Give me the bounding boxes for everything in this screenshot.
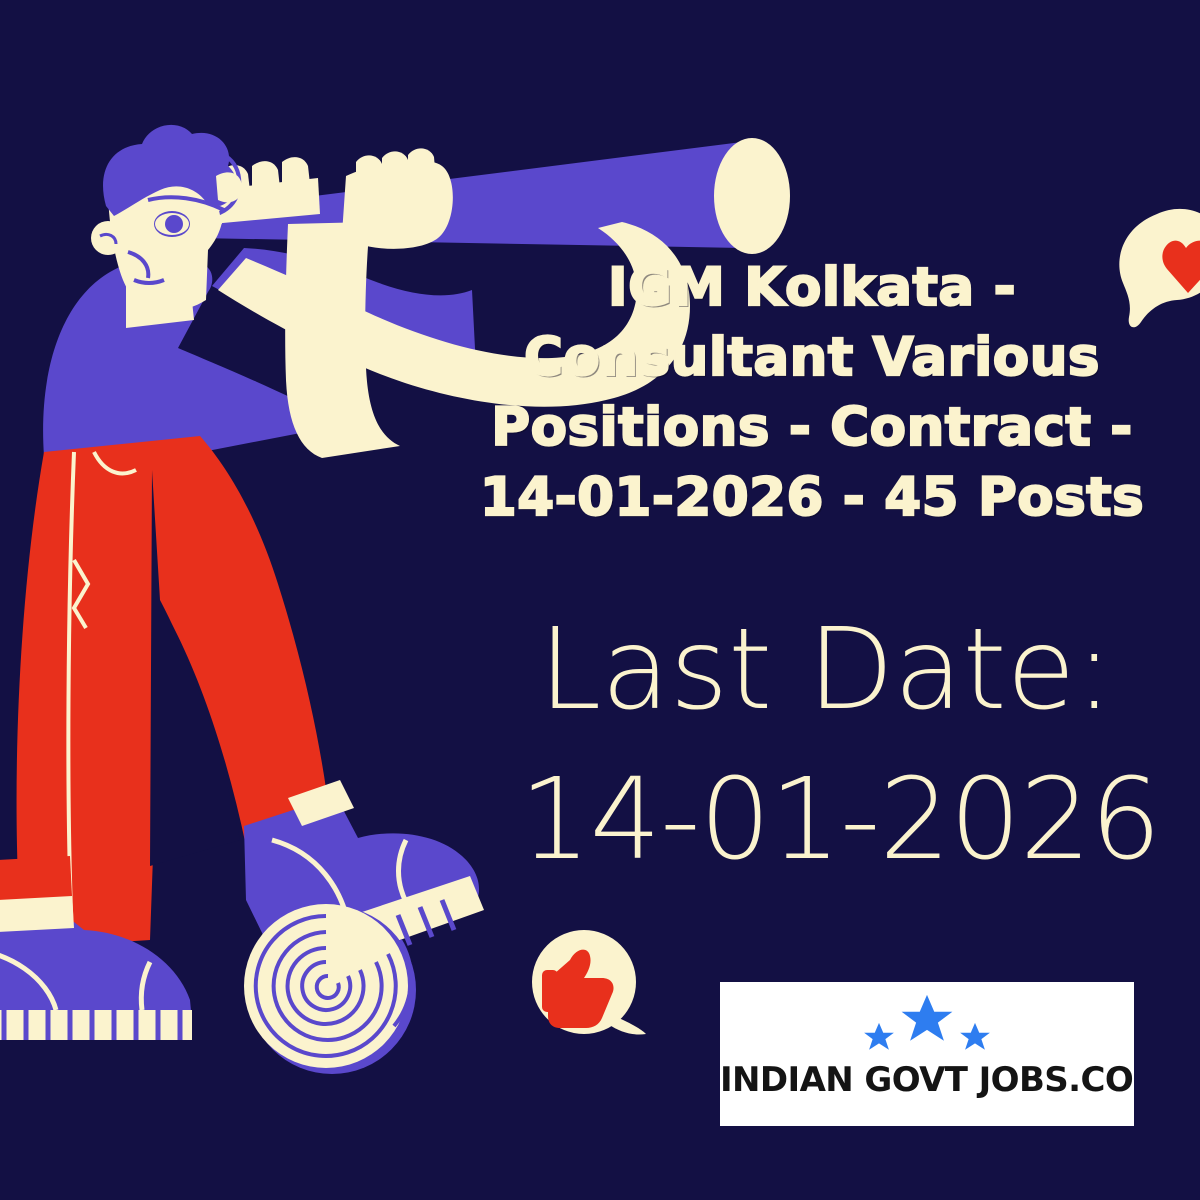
logo-stars	[720, 992, 1134, 1054]
page-title: IGM Kolkata - Consultant Various Positio…	[462, 253, 1162, 533]
star-icon-right	[958, 1020, 992, 1054]
star-icon-left	[862, 1020, 896, 1054]
last-date-value: 14-01-2026	[470, 745, 1200, 895]
telescope-lens	[714, 138, 790, 254]
star-icon-center	[898, 990, 956, 1048]
last-date-label: Last Date:	[470, 595, 1200, 745]
last-date-block: Last Date: 14-01-2026	[470, 595, 1200, 895]
hand-far	[342, 148, 453, 248]
job-poster: IGM Kolkata - Consultant Various Positio…	[0, 0, 1200, 1200]
logo-site-name: INDIAN GOVT JOBS.CO.IN	[720, 1060, 1134, 1100]
site-logo-badge[interactable]: INDIAN GOVT JOBS.CO.IN	[720, 982, 1134, 1126]
